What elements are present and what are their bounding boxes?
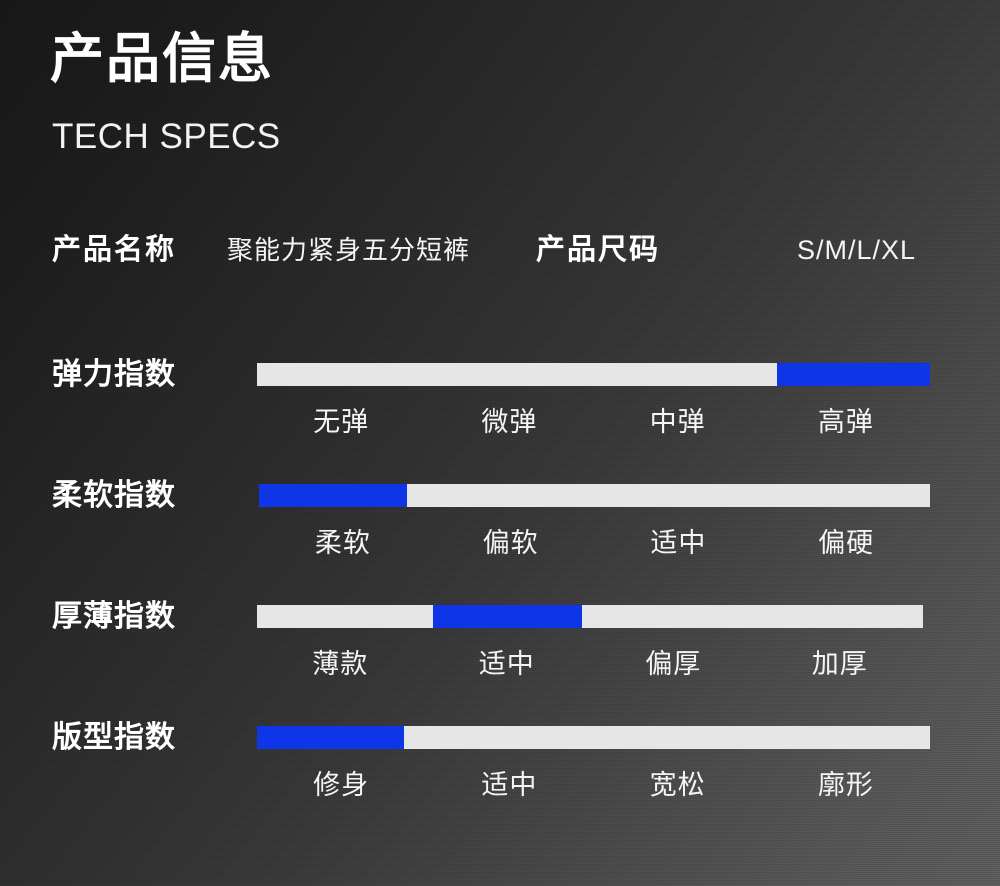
spec-scale: 薄款适中偏厚加厚: [257, 647, 923, 681]
spec-bar[interactable]: [259, 479, 930, 513]
spec-bar[interactable]: [257, 358, 930, 392]
spec-scale-tick[interactable]: 微弹: [425, 405, 593, 439]
spec-scale-tick[interactable]: 无弹: [257, 405, 425, 439]
spec-scale: 无弹微弹中弹高弹: [257, 405, 930, 439]
spec-scale-tick[interactable]: 加厚: [757, 647, 924, 681]
spec-bar-fill: [257, 726, 404, 749]
product-size-value: S/M/L/XL: [797, 228, 916, 272]
spec-scale-tick[interactable]: 偏软: [427, 526, 595, 560]
spec-row-label: 厚薄指数: [52, 600, 252, 634]
spec-scale: 修身适中宽松廓形: [257, 768, 930, 802]
spec-row: 厚薄指数薄款适中偏厚加厚: [0, 600, 1000, 706]
spec-row: 弹力指数无弹微弹中弹高弹: [0, 358, 1000, 464]
spec-bar-fill: [777, 363, 930, 386]
spec-row-label: 版型指数: [52, 721, 252, 755]
spec-scale: 柔软偏软适中偏硬: [259, 526, 930, 560]
spec-scale-tick[interactable]: 廓形: [762, 768, 930, 802]
spec-scale-tick[interactable]: 高弹: [762, 405, 930, 439]
spec-bar-fill: [433, 605, 582, 628]
spec-scale-tick[interactable]: 中弹: [594, 405, 762, 439]
spec-row: 柔软指数柔软偏软适中偏硬: [0, 479, 1000, 585]
product-spec-page: 产品信息 TECH SPECS 产品名称 聚能力紧身五分短裤 产品尺码 S/M/…: [0, 0, 1000, 886]
spec-scale-tick[interactable]: 偏厚: [590, 647, 757, 681]
spec-scale-tick[interactable]: 柔软: [259, 526, 427, 560]
spec-scale-tick[interactable]: 偏硬: [762, 526, 930, 560]
product-name-label: 产品名称: [52, 228, 176, 272]
spec-bar-track: [257, 605, 923, 628]
spec-scale-tick[interactable]: 宽松: [594, 768, 762, 802]
spec-scale-tick[interactable]: 适中: [595, 526, 763, 560]
spec-bar[interactable]: [257, 600, 923, 634]
spec-scale-tick[interactable]: 适中: [425, 768, 593, 802]
spec-row-label: 弹力指数: [52, 358, 252, 392]
spec-row-label: 柔软指数: [52, 479, 252, 513]
spec-scale-tick[interactable]: 适中: [424, 647, 591, 681]
spec-bar-fill: [259, 484, 407, 507]
product-name-value: 聚能力紧身五分短裤: [227, 228, 470, 272]
product-size-label: 产品尺码: [536, 228, 660, 272]
page-subtitle: TECH SPECS: [52, 118, 281, 157]
page-content: 产品信息 TECH SPECS 产品名称 聚能力紧身五分短裤 产品尺码 S/M/…: [0, 0, 1000, 886]
spec-bar[interactable]: [257, 721, 930, 755]
spec-scale-tick[interactable]: 薄款: [257, 647, 424, 681]
product-info-row: 产品名称 聚能力紧身五分短裤 产品尺码 S/M/L/XL: [52, 228, 932, 272]
page-title: 产品信息: [50, 28, 274, 91]
spec-scale-tick[interactable]: 修身: [257, 768, 425, 802]
spec-row: 版型指数修身适中宽松廓形: [0, 721, 1000, 827]
